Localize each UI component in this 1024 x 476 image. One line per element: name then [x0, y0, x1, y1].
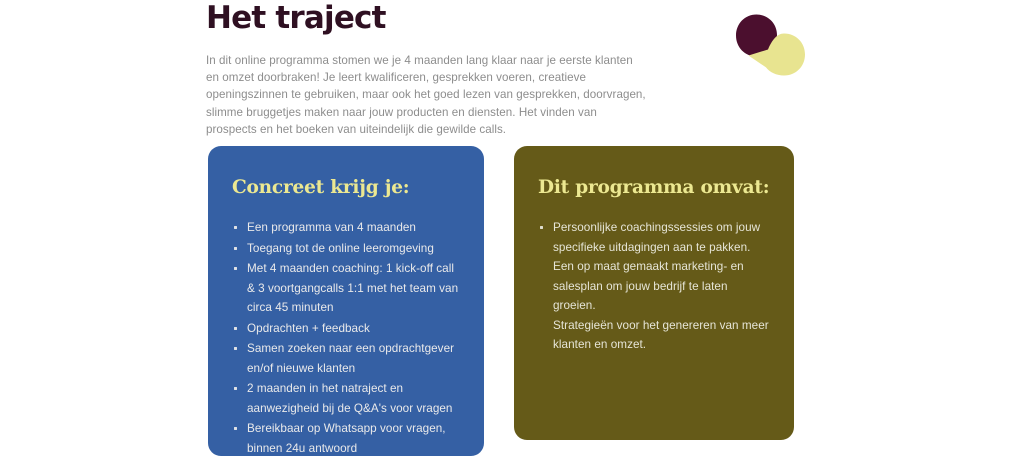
page-root: Het traject In dit online programma stom… [0, 0, 1024, 476]
list-item: Met 4 maanden coaching: 1 kick-off call … [232, 259, 462, 318]
list-item: Samen zoeken naar een opdrachtgever en/o… [232, 339, 462, 378]
list-item: Toegang tot de online leeromgeving [232, 239, 462, 259]
list-item: Opdrachten + feedback [232, 319, 462, 339]
list-item: Bereikbaar op Whatsapp voor vragen, binn… [232, 419, 462, 458]
teardrop-pair-graphic [712, 6, 812, 80]
card-concreet-krijg-je: Concreet krijg je: Een programma van 4 m… [208, 146, 484, 456]
card-right-list: Persoonlijke coachingssessies om jouw sp… [538, 218, 772, 355]
list-item: Persoonlijke coachingssessies om jouw sp… [538, 218, 772, 355]
card-left-list: Een programma van 4 maanden Toegang tot … [232, 218, 462, 458]
card-right-heading: Dit programma omvat: [538, 176, 772, 200]
list-item: Een programma van 4 maanden [232, 218, 462, 238]
page-title: Het traject [206, 0, 386, 40]
card-left-heading: Concreet krijg je: [232, 176, 462, 200]
list-item: 2 maanden in het natraject en aanwezighe… [232, 379, 462, 418]
intro-paragraph: In dit online programma stomen we je 4 m… [206, 52, 646, 138]
card-dit-programma-omvat: Dit programma omvat: Persoonlijke coachi… [514, 146, 794, 440]
